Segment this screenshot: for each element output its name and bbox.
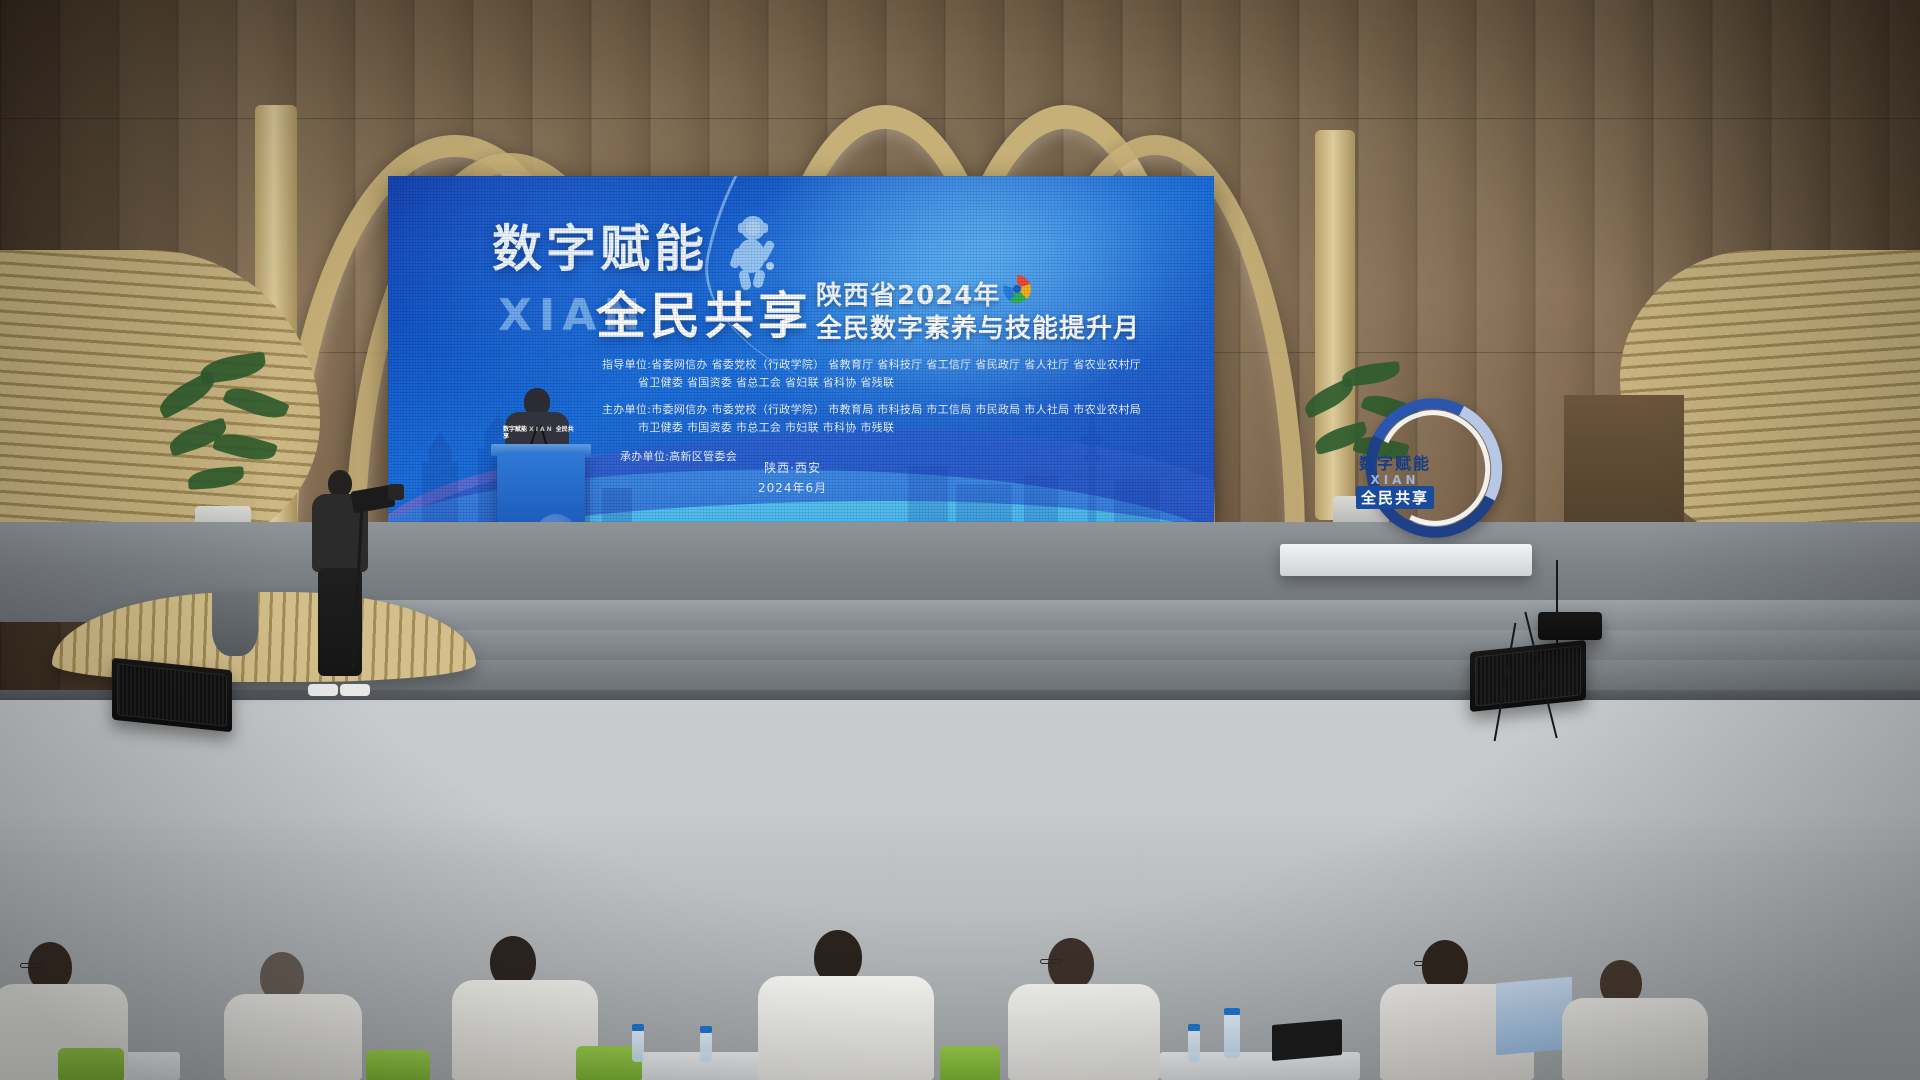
led-date: 2024年6月	[758, 478, 827, 498]
audience-body	[1008, 984, 1160, 1080]
audience-member	[756, 920, 936, 1080]
spacer	[602, 392, 1202, 401]
audience-body	[758, 976, 934, 1080]
led-slogan-sub: 全民共享	[596, 291, 812, 341]
water-bottle	[700, 1032, 712, 1062]
led-place: 陕西·西安	[758, 458, 827, 478]
standee-line2: XIAN	[1320, 474, 1470, 486]
water-bottle	[1188, 1030, 1200, 1062]
camera-lens-hood	[388, 484, 404, 500]
audience-chair	[366, 1050, 430, 1080]
stage-step	[228, 660, 1920, 690]
led-organizations: 指导单位:省委网信办 省委党校（行政学院） 省教育厅 省科技厅 省工信厅 省民政…	[602, 356, 1202, 464]
leaf	[222, 381, 290, 425]
standee-base	[1280, 544, 1532, 576]
water-bottle	[1224, 1014, 1240, 1058]
stage-step	[228, 630, 1920, 660]
audience-head	[1048, 938, 1094, 990]
audience-body	[224, 994, 362, 1080]
eyeglasses	[1040, 959, 1062, 964]
eyeglasses	[1414, 961, 1436, 966]
stage-light-fixture	[1538, 612, 1602, 640]
led-place-date: 陕西·西安 2024年6月	[758, 458, 827, 499]
bottle-cap	[632, 1024, 644, 1031]
eyeglasses	[20, 963, 42, 968]
bottle-cap	[1224, 1008, 1240, 1015]
audience-member	[218, 940, 368, 1080]
led-slogan-main: 数字赋能	[492, 224, 708, 274]
stage-step	[228, 600, 1920, 630]
leaf	[187, 466, 244, 490]
led-event-title: 陕西省2024年 全民数字素养与技能提升月	[816, 280, 1140, 345]
audience-body	[1562, 998, 1708, 1080]
guiding-units-line1: 指导单位:省委网信办 省委党校（行政学院） 省教育厅 省科技厅 省工信厅 省民政…	[602, 356, 1202, 374]
bottle-cap	[1188, 1024, 1200, 1031]
water-bottle	[632, 1030, 644, 1062]
standee-line1: 数字赋能	[1320, 450, 1470, 474]
podium-logo-line1: 数字赋能	[503, 426, 527, 433]
leaf	[1341, 361, 1401, 387]
undertaker-line: 承办单位:高新区管委会	[602, 448, 1202, 464]
floor-reflection	[0, 700, 1920, 860]
audience-member	[1560, 950, 1710, 1080]
guiding-units-line2: 省卫健委 省国资委 省总工会 省妇联 省科协 省残联	[602, 374, 1202, 392]
stage-monitor-speaker-left	[112, 658, 232, 733]
potted-plant-left	[148, 350, 298, 540]
hosting-units-line2: 市卫健委 市国资委 市总工会 市妇联 市科协 市残联	[602, 419, 1202, 437]
podium-logo-pinyin: XIAN	[529, 426, 554, 433]
hosting-units-line1: 主办单位:市委网信办 市委党校（行政学院） 市教育局 市科技局 市工信局 市民政…	[602, 401, 1202, 419]
led-title-line1: 陕西省2024年	[816, 280, 1140, 313]
standee-line3: 全民共享	[1356, 486, 1434, 509]
astronaut-mascot-icon	[720, 214, 782, 292]
audience-chair	[58, 1048, 124, 1080]
bench-notch	[212, 592, 258, 656]
bottle-cap	[700, 1026, 712, 1033]
cameraman-shoe	[308, 684, 338, 696]
speaker-grill	[117, 663, 227, 727]
leaf	[199, 352, 268, 385]
audience-chair	[940, 1046, 1000, 1080]
speaker-grill	[1475, 645, 1581, 706]
cameraman	[300, 470, 386, 690]
cameraman-head	[328, 470, 352, 497]
standee-branding: 数字赋能 XIAN 全民共享	[1320, 450, 1470, 509]
cameraman-shoe	[340, 684, 370, 696]
digital-literacy-logo-icon	[1000, 272, 1034, 306]
laptop-lid	[1272, 1019, 1342, 1061]
photo-scene: 数字赋能 XIAN 全民共享 陕西省2024年 全民数字素养与技能提升月 指导单…	[0, 0, 1920, 1080]
audience-member	[1006, 930, 1166, 1080]
circular-standee: 数字赋能 XIAN 全民共享	[1280, 398, 1538, 583]
stage-edge	[0, 690, 1920, 700]
led-title-line2: 全民数字素养与技能提升月	[816, 313, 1140, 346]
podium-branding: 数字赋能 XIAN 全民共享	[503, 426, 579, 440]
stage-monitor-speaker-right	[1470, 640, 1586, 712]
